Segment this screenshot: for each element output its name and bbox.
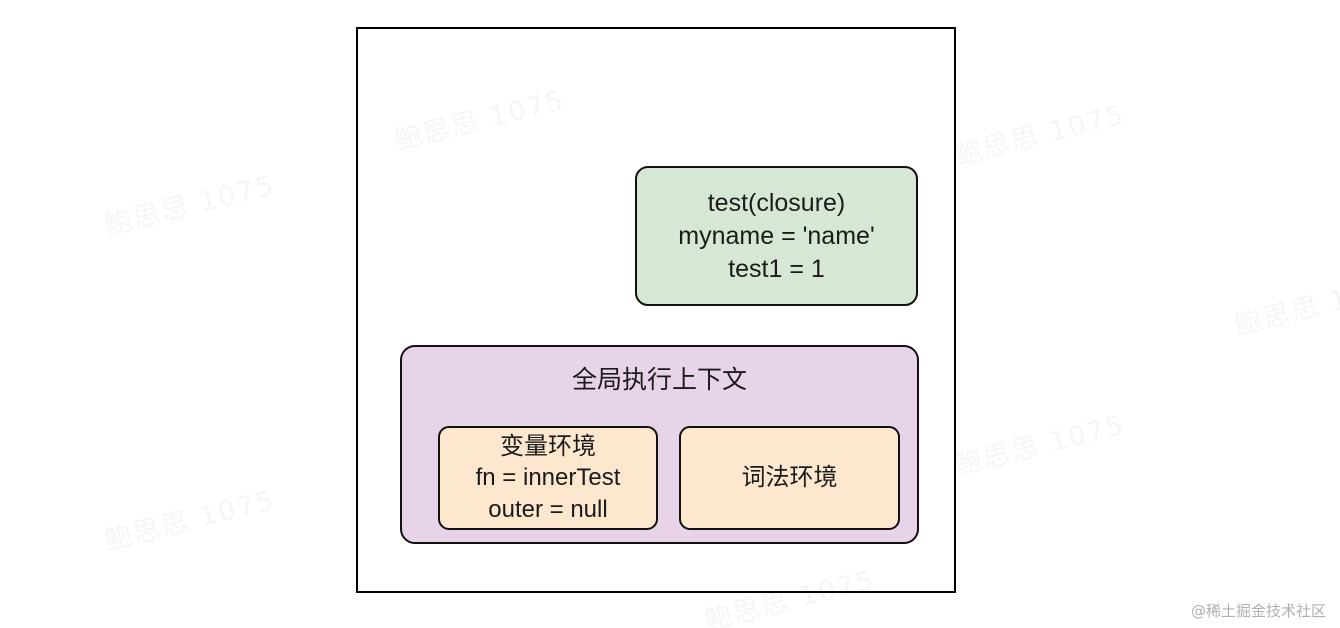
lexical-environment-box[interactable]: 词法环境: [679, 426, 900, 530]
diagram-canvas: 鲍思思 1075鲍思思 1075鲍思思 1075鲍思思 1075鲍思思 1075…: [0, 0, 1340, 628]
background-watermark: 鲍思思 1075: [950, 403, 1129, 483]
global-execution-context-title: 全局执行上下文: [572, 365, 747, 395]
variable-environment-line-1: 变量环境: [500, 431, 596, 462]
variable-environment-line-2: fn = innerTest: [476, 462, 621, 493]
global-execution-context-box[interactable]: 全局执行上下文 变量环境 fn = innerTest outer = null…: [400, 345, 919, 544]
background-watermark: 鲍思思 1075: [1230, 263, 1340, 343]
closure-context-line-2: myname = 'name': [678, 220, 874, 253]
closure-context-line-1: test(closure): [708, 187, 846, 220]
closure-context-box[interactable]: test(closure) myname = 'name' test1 = 1: [635, 166, 918, 306]
lexical-environment-line-1: 词法环境: [742, 462, 838, 493]
closure-context-line-3: test1 = 1: [728, 253, 825, 286]
background-watermark: 鲍思思 1075: [100, 163, 279, 243]
footer-credit: @稀土掘金技术社区: [1191, 600, 1326, 621]
background-watermark: 鲍思思 1075: [950, 93, 1129, 173]
environment-row: 变量环境 fn = innerTest outer = null 词法环境: [438, 426, 900, 530]
background-watermark: 鲍思思 1075: [100, 478, 279, 558]
variable-environment-box[interactable]: 变量环境 fn = innerTest outer = null: [438, 426, 658, 530]
variable-environment-line-3: outer = null: [488, 494, 607, 525]
